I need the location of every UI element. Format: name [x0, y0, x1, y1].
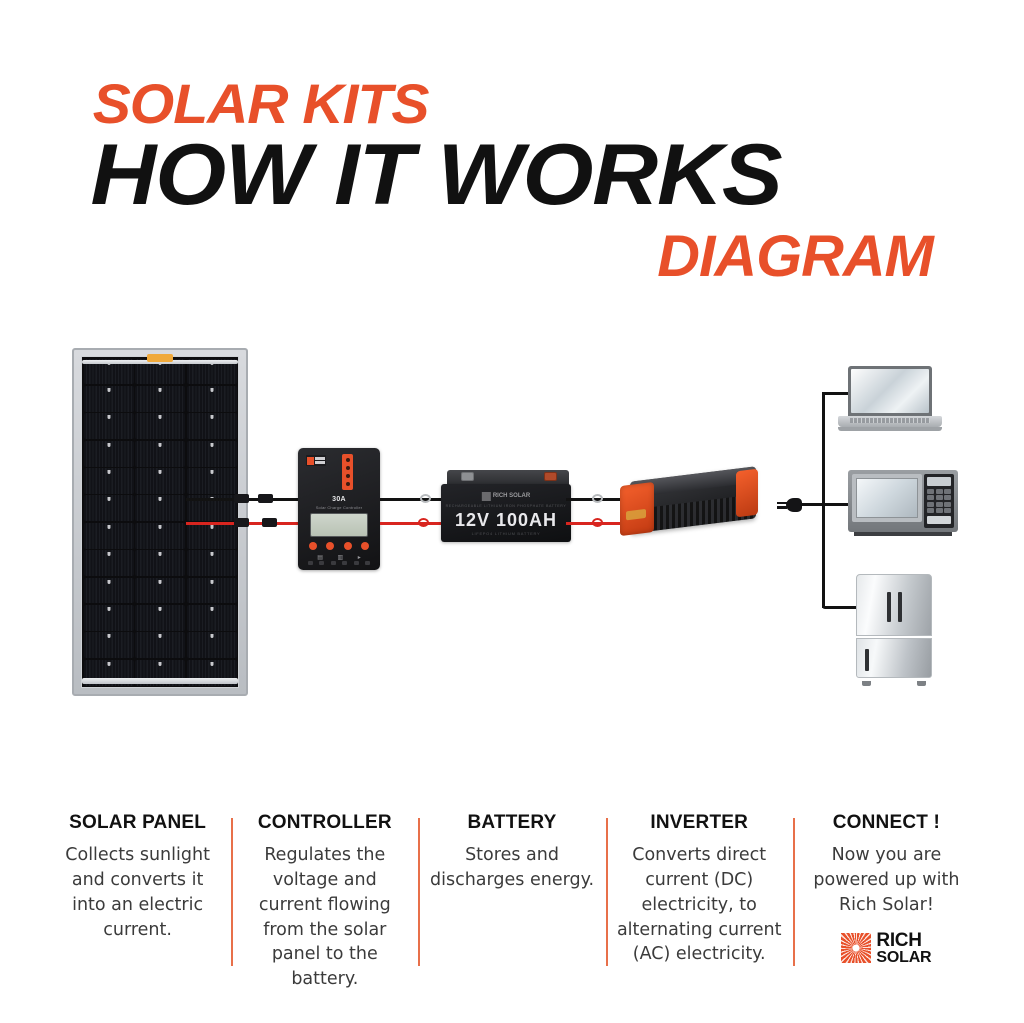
battery-chemistry-bottom-label: LIFEPO4 LITHIUM BATTERY	[441, 531, 571, 536]
footer-columns: SOLAR PANELCollects sunlight and convert…	[0, 812, 1024, 992]
battery-graphic: RICH SOLAR RECHARGEABLE LITHIUM IRON PHO…	[441, 470, 571, 542]
microwave-key	[927, 508, 934, 513]
controller-terminal	[342, 561, 347, 565]
microwave-start-button	[927, 516, 951, 524]
footer-column-controller: CONTROLLERRegulates the voltage and curr…	[231, 812, 418, 992]
controller-icon-row: ▤ ▥ ▸	[310, 554, 368, 561]
microwave-door	[852, 474, 922, 522]
footer-column-title: SOLAR PANEL	[54, 812, 221, 834]
microwave-key	[927, 495, 934, 500]
solar-cell	[135, 468, 185, 494]
solar-cell	[84, 550, 134, 576]
title-block: SOLAR KITS HOW IT WORKS DIAGRAM	[0, 34, 1024, 274]
battery-body: RICH SOLAR RECHARGEABLE LITHIUM IRON PHO…	[441, 484, 571, 542]
controller-terminal	[308, 561, 313, 565]
controller-led-strip	[342, 454, 353, 490]
ring-terminal-positive-left	[418, 518, 429, 527]
footer-column-text: Regulates the voltage and current flowin…	[241, 843, 408, 992]
footer-column-title: BATTERY	[428, 812, 595, 834]
controller-terminal	[365, 561, 370, 565]
solar-cell	[135, 605, 185, 631]
microwave-key	[944, 495, 951, 500]
solar-cell	[187, 386, 237, 412]
microwave-key	[927, 502, 934, 507]
brand-line-solar: SOLAR	[876, 950, 931, 965]
solar-cell	[135, 578, 185, 604]
sunburst-icon	[841, 933, 871, 963]
solar-cell	[135, 523, 185, 549]
footer-column-solar-panel: SOLAR PANELCollects sunlight and convert…	[44, 812, 231, 992]
inverter-graphic	[612, 470, 772, 540]
controller-terminal-row	[308, 561, 370, 565]
solar-cell	[187, 468, 237, 494]
microwave-key	[944, 502, 951, 507]
solar-cell	[187, 605, 237, 631]
load-icon: ▸	[358, 554, 361, 561]
solar-cell	[135, 632, 185, 658]
system-diagram: 30A Solar Charge Controller ▤ ▥ ▸	[0, 330, 1024, 730]
junction-box-icon	[147, 354, 173, 362]
refrigerator-handle-right	[898, 592, 902, 622]
ring-terminal-negative-left	[420, 494, 431, 503]
mc4-connector-positive-a	[234, 518, 249, 527]
battery-icon: ▥	[337, 554, 343, 561]
ring-terminal-negative-right	[592, 494, 603, 503]
controller-subtitle-label: Solar Charge Controller	[298, 505, 380, 510]
microwave-base-shadow	[854, 532, 952, 536]
laptop-screen	[851, 369, 929, 413]
microwave-graphic	[848, 470, 958, 540]
charge-controller-graphic: 30A Solar Charge Controller ▤ ▥ ▸	[298, 448, 380, 570]
solar-cell	[187, 523, 237, 549]
solar-cell	[135, 495, 185, 521]
solar-cell	[84, 578, 134, 604]
microwave-control-panel	[924, 474, 954, 528]
wire-ac-trunk-horizontal	[800, 503, 852, 506]
controller-lcd-display	[310, 513, 368, 537]
solar-cell	[187, 578, 237, 604]
footer-column-title: CONNECT !	[803, 812, 970, 834]
microwave-key	[944, 508, 951, 513]
refrigerator-freezer-handle	[865, 649, 869, 671]
battery-rating-label: 12V 100AH	[441, 510, 571, 531]
footer-column-text: Now you are powered up with Rich Solar!	[803, 843, 970, 918]
battery-brand-logo-icon: RICH SOLAR	[482, 492, 530, 501]
footer-column-connect: CONNECT !Now you are powered up with Ric…	[793, 812, 980, 992]
controller-button[interactable]	[344, 542, 352, 550]
brand-line-rich: RICH	[876, 932, 931, 950]
title-line-diagram: DIAGRAM	[657, 228, 932, 286]
footer-column-title: INVERTER	[616, 812, 783, 834]
footer-column-text: Converts direct current (DC) electricity…	[616, 843, 783, 967]
battery-brand-label: RICH SOLAR	[493, 494, 530, 499]
wire-controller-battery-positive	[380, 522, 450, 525]
controller-led	[346, 474, 350, 478]
ring-terminal-positive-right	[592, 518, 603, 527]
microwave-key	[936, 502, 943, 507]
refrigerator-freezer-drawer	[856, 638, 932, 678]
microwave-display	[927, 477, 951, 486]
panel-frame-bottom-bar	[82, 678, 238, 684]
solar-cell	[187, 441, 237, 467]
battery-chemistry-top-label: RECHARGEABLE LITHIUM IRON PHOSPHATE BATT…	[441, 504, 571, 508]
laptop-front-edge	[838, 427, 942, 431]
microwave-key	[927, 489, 934, 494]
solar-cell	[135, 441, 185, 467]
footer-column-battery: BATTERYStores and discharges energy.	[418, 812, 605, 992]
footer-legend: SOLAR PANELCollects sunlight and convert…	[0, 812, 1024, 1023]
solar-cell	[84, 386, 134, 412]
microwave-key	[936, 508, 943, 513]
footer-column-inverter: INVERTERConverts direct current (DC) ele…	[606, 812, 793, 992]
solar-cell	[187, 413, 237, 439]
controller-led	[346, 458, 350, 462]
microwave-glass	[856, 478, 918, 518]
controller-button[interactable]	[326, 542, 334, 550]
battery-terminal-negative	[461, 472, 474, 481]
solar-cell	[84, 523, 134, 549]
mc4-connector-negative-a	[234, 494, 249, 503]
controller-terminal	[331, 561, 336, 565]
controller-terminal	[354, 561, 359, 565]
solar-cell	[84, 605, 134, 631]
wire-ac-trunk-vertical	[822, 392, 825, 608]
controller-model-label: 30A	[298, 496, 380, 503]
refrigerator-foot	[917, 681, 926, 686]
microwave-key	[944, 489, 951, 494]
solar-cell	[135, 413, 185, 439]
controller-button[interactable]	[309, 542, 317, 550]
refrigerator-feet	[862, 681, 926, 686]
inverter-rear-cap	[736, 469, 758, 518]
solar-cell	[84, 413, 134, 439]
refrigerator-foot	[862, 681, 871, 686]
solar-cell	[135, 550, 185, 576]
solar-cell	[187, 632, 237, 658]
refrigerator-upper-doors	[856, 574, 932, 636]
controller-button-row[interactable]	[309, 542, 369, 550]
brand-wordmark: RICHSOLAR	[876, 932, 931, 966]
microwave-key	[936, 495, 943, 500]
microwave-keypad	[927, 489, 951, 513]
controller-terminal	[319, 561, 324, 565]
solar-cell	[84, 632, 134, 658]
footer-column-text: Collects sunlight and converts it into a…	[54, 843, 221, 942]
solar-cell	[84, 441, 134, 467]
microwave-key	[936, 489, 943, 494]
controller-led	[346, 482, 350, 486]
solar-cell	[187, 550, 237, 576]
brand-mark-icon	[482, 492, 491, 501]
battery-terminal-positive	[544, 472, 557, 481]
laptop-keyboard	[850, 418, 930, 423]
rich-solar-logo: RICHSOLAR	[803, 932, 970, 966]
microwave-body	[848, 470, 958, 532]
refrigerator-graphic	[856, 574, 932, 682]
laptop-graphic	[838, 366, 942, 434]
controller-led	[346, 466, 350, 470]
laptop-lid	[848, 366, 932, 416]
title-line-solar-kits: SOLAR KITS	[93, 76, 429, 132]
refrigerator-handle-left	[887, 592, 891, 622]
solar-cell	[135, 386, 185, 412]
panel-icon: ▤	[317, 554, 323, 561]
solar-cell	[84, 468, 134, 494]
mc4-connector-positive-b	[262, 518, 277, 527]
footer-column-title: CONTROLLER	[241, 812, 408, 834]
mc4-connector-negative-b	[258, 494, 273, 503]
inverter-front-cap	[620, 482, 654, 536]
controller-button[interactable]	[361, 542, 369, 550]
infographic-page: SOLAR KITS HOW IT WORKS DIAGRAM	[0, 0, 1024, 1023]
footer-column-text: Stores and discharges energy.	[428, 843, 595, 893]
controller-brand-logo-icon	[306, 455, 326, 466]
title-line-how-it-works: HOW IT WORKS	[90, 132, 781, 218]
solar-cell	[84, 495, 134, 521]
